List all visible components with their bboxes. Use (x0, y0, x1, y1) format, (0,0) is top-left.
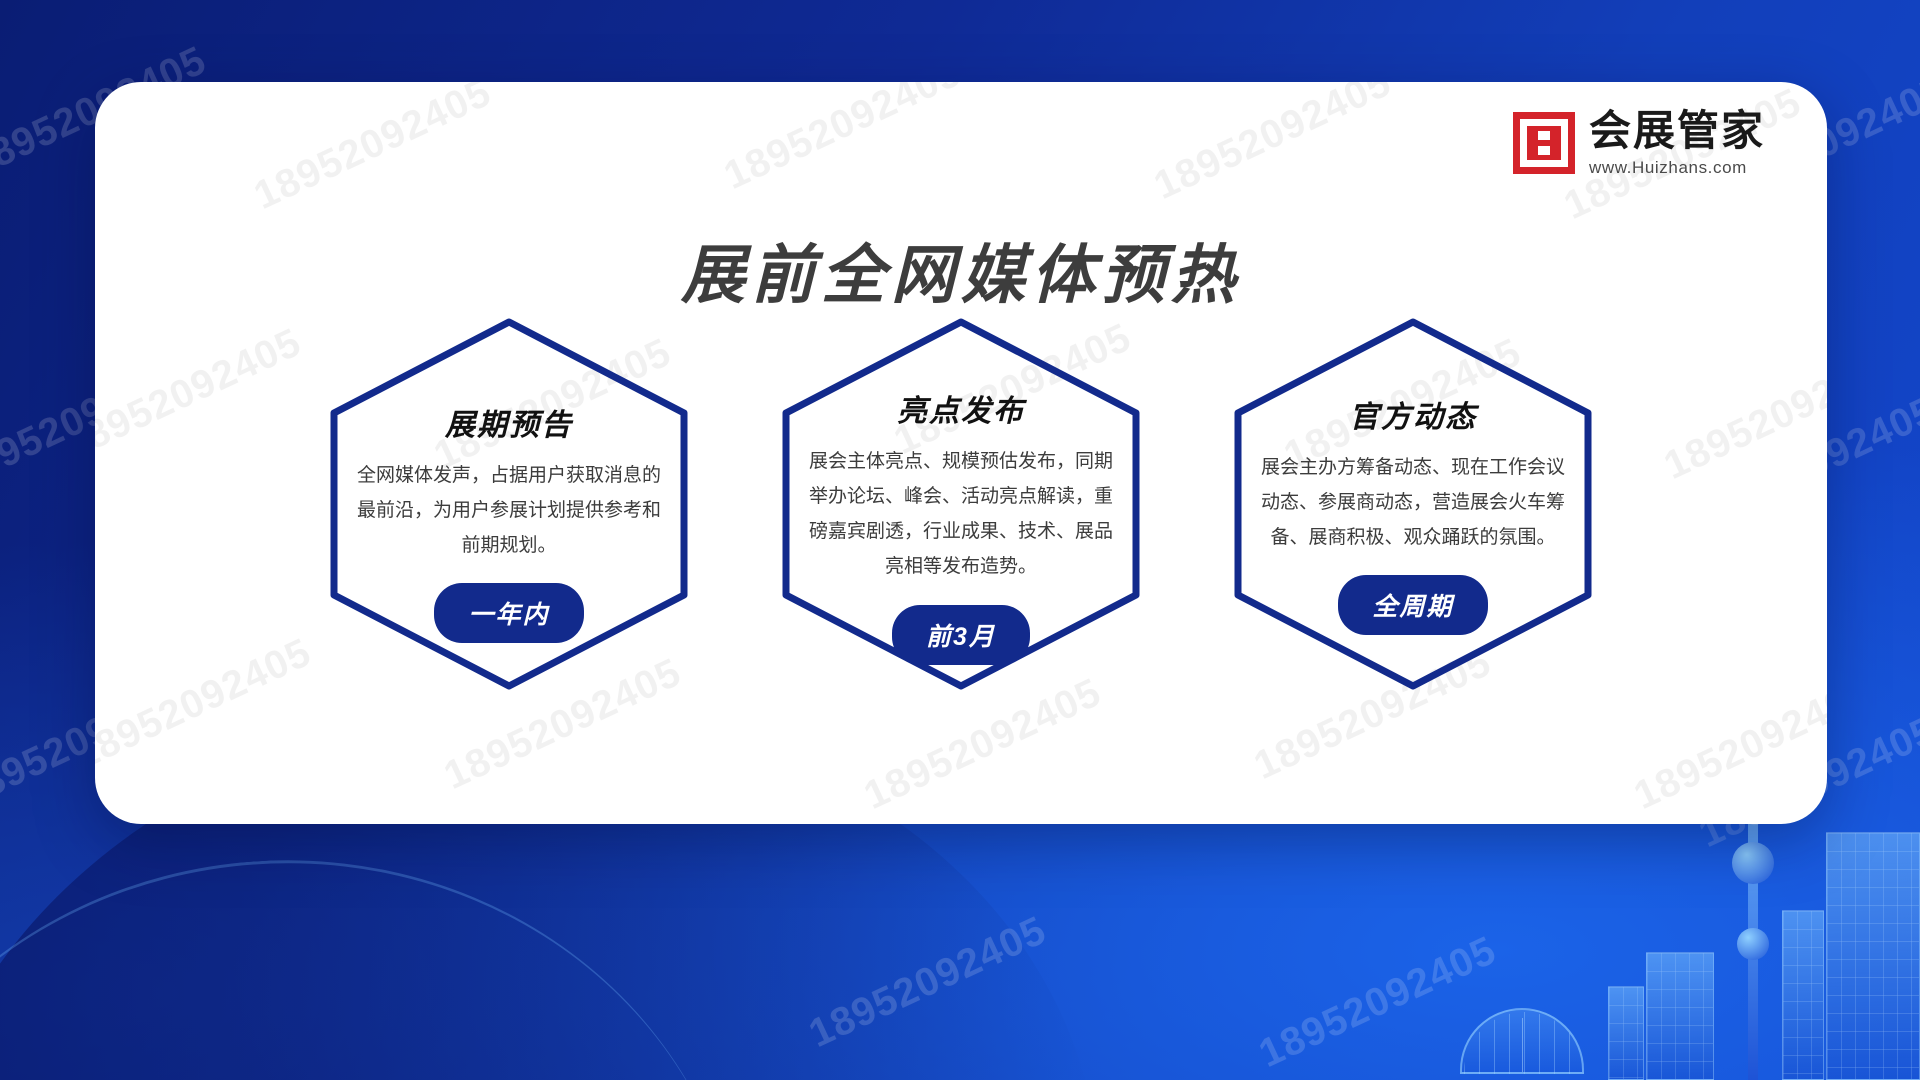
hexagon-card[interactable]: 官方动态 展会主办方筹备动态、现在工作会议动态、参展商动态，营造展会火车筹备、展… (1230, 314, 1596, 694)
watermark-text: 18952092405 (247, 82, 498, 219)
tv-tower-icon (1726, 780, 1780, 1080)
watermark-text: 18952092405 (717, 82, 968, 199)
content-card: 18952092405 18952092405 18952092405 1895… (95, 82, 1827, 824)
watermark-text: 18952092405 (1147, 82, 1398, 209)
card-description: 展会主体亮点、规模预估发布，同期举办论坛、峰会、活动亮点解读，重磅嘉宾剧透，行业… (804, 444, 1118, 585)
hexagon-card[interactable]: 亮点发布 展会主体亮点、规模预估发布，同期举办论坛、峰会、活动亮点解读，重磅嘉宾… (778, 314, 1144, 694)
card-badge[interactable]: 一年内 (434, 583, 583, 643)
page-title: 展前全网媒体预热 (95, 224, 1827, 316)
card-description: 展会主办方筹备动态、现在工作会议动态、参展商动态，营造展会火车筹备、展商积极、观… (1256, 450, 1570, 555)
card-title: 官方动态 (1256, 392, 1570, 436)
card-description: 全网媒体发声，占据用户获取消息的最前沿，为用户参展计划提供参考和前期规划。 (352, 458, 666, 563)
logo-name: 会展管家 (1589, 110, 1765, 152)
brand-logo: 会展管家 www.Huizhans.com (1513, 110, 1765, 176)
huizhans-h-square-icon (1513, 112, 1575, 174)
card-title: 展期预告 (352, 400, 666, 444)
logo-url: www.Huizhans.com (1589, 159, 1765, 176)
card-badge[interactable]: 前3月 (892, 605, 1030, 665)
hexagon-card[interactable]: 展期预告 全网媒体发声，占据用户获取消息的最前沿，为用户参展计划提供参考和前期规… (326, 314, 692, 694)
card-badge[interactable]: 全周期 (1338, 575, 1487, 635)
hexagon-card-row: 展期预告 全网媒体发声，占据用户获取消息的最前沿，为用户参展计划提供参考和前期规… (95, 314, 1827, 694)
card-title: 亮点发布 (804, 386, 1118, 430)
slide-canvas: 18952092405 18952092405 18952092405 1895… (0, 0, 1920, 1080)
